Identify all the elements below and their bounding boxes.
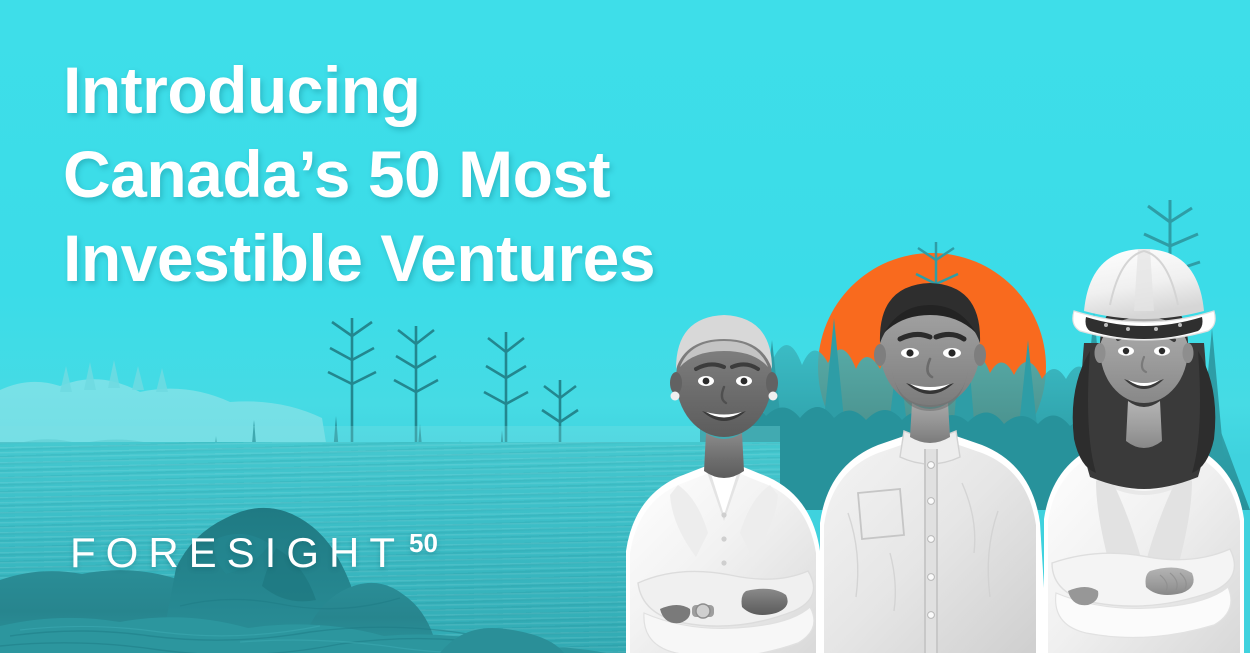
person-woman-hard-hat xyxy=(1038,233,1250,653)
person-man-button-up-shirt xyxy=(812,253,1062,653)
foresight-50-announcement-banner: Introducing Canada’s 50 Most Investible … xyxy=(0,0,1250,653)
people-group xyxy=(0,0,1250,653)
